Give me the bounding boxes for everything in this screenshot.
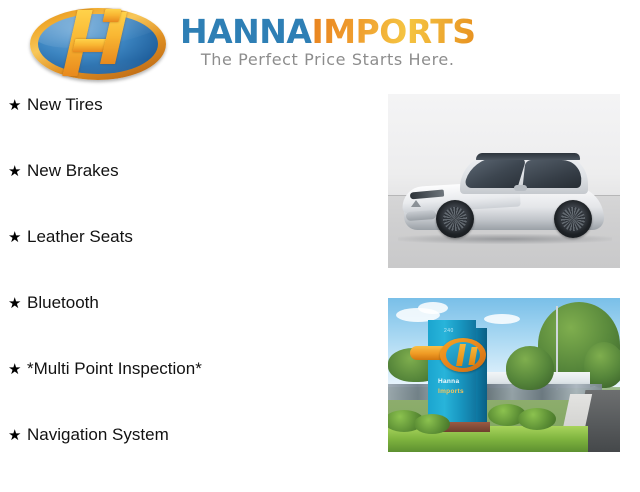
vehicle-body <box>402 146 608 238</box>
list-item: ★ Bluetooth <box>0 294 370 360</box>
vehicle-mirror <box>514 185 527 191</box>
monument-sign-number: 240 <box>444 328 454 334</box>
brand-wordmark: HANNAIMPORTS The Perfect Price Starts He… <box>180 15 476 69</box>
brand-header: HANNAIMPORTS The Perfect Price Starts He… <box>0 0 640 92</box>
vehicle-badge-icon <box>411 200 421 207</box>
vehicle-feature-list: ★ New Tires ★ New Brakes ★ Leather Seats… <box>0 96 370 492</box>
brand-logo-lockup[interactable]: HANNAIMPORTS The Perfect Price Starts He… <box>30 8 476 80</box>
brand-tagline: The Perfect Price Starts Here. <box>180 50 476 69</box>
star-bullet-icon: ★ <box>8 164 27 179</box>
star-bullet-icon: ★ <box>8 428 27 443</box>
monument-sign-text-hanna: Hanna <box>438 378 459 385</box>
star-bullet-icon: ★ <box>8 98 27 113</box>
monogram-right-cap <box>102 9 121 22</box>
vehicle-front-wheel <box>436 200 474 238</box>
feature-label: Bluetooth <box>27 294 99 311</box>
feature-label: *Multi Point Inspection* <box>27 360 202 377</box>
monument-sign-text-imports: Imports <box>438 388 464 395</box>
brand-wordmark-row: HANNAIMPORTS <box>180 15 476 49</box>
hedge <box>414 414 450 434</box>
dealership-photo[interactable]: 240 Hanna Imports <box>388 298 620 452</box>
list-item: ★ Navigation System <box>0 426 370 492</box>
feature-label: Leather Seats <box>27 228 133 245</box>
star-bullet-icon: ★ <box>8 296 27 311</box>
star-bullet-icon: ★ <box>8 230 27 245</box>
list-item: ★ New Tires <box>0 96 370 162</box>
vehicle-rear-wheel <box>554 200 592 238</box>
hedge <box>518 408 556 430</box>
tree <box>506 346 554 390</box>
vehicle-side-window <box>523 160 584 188</box>
vehicle-photo[interactable] <box>388 94 620 268</box>
list-item: ★ Leather Seats <box>0 228 370 294</box>
feature-label: New Tires <box>27 96 103 113</box>
cloud <box>484 314 520 324</box>
list-item: ★ New Brakes <box>0 162 370 228</box>
list-item: ★ *Multi Point Inspection* <box>0 360 370 426</box>
brand-name-hanna: HANNA <box>180 12 311 51</box>
star-bullet-icon: ★ <box>8 362 27 377</box>
brand-name-imports: IMPORTS <box>311 12 475 51</box>
vehicle-roofline <box>476 153 580 160</box>
cloud <box>418 302 448 314</box>
feature-label: New Brakes <box>27 162 119 179</box>
feature-label: Navigation System <box>27 426 169 443</box>
monument-sign <box>428 320 476 428</box>
hanna-oval-h-monogram-icon <box>30 8 166 80</box>
